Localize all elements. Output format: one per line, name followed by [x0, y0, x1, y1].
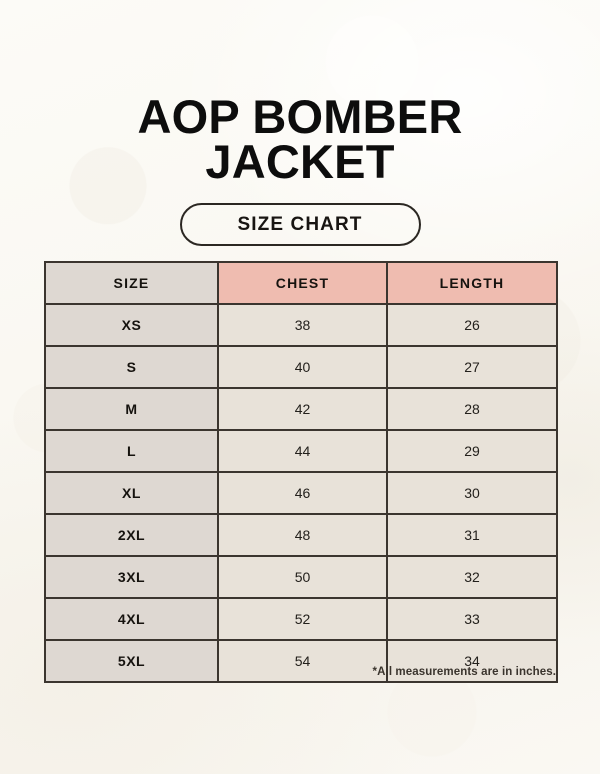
table-row: 3XL 50 32	[45, 556, 557, 598]
size-chart-badge-wrapper: SIZE CHART	[0, 203, 600, 246]
cell-chest: 42	[218, 388, 387, 430]
table-row: L 44 29	[45, 430, 557, 472]
cell-length: 31	[387, 514, 557, 556]
size-chart-poster: AOP BOMBER JACKET SIZE CHART SIZE CHEST …	[0, 0, 600, 774]
table-row: M 42 28	[45, 388, 557, 430]
cell-chest: 44	[218, 430, 387, 472]
size-chart-badge: SIZE CHART	[180, 203, 421, 246]
size-table: SIZE CHEST LENGTH XS 38 26 S 40 27 M	[44, 261, 558, 683]
table-row: 4XL 52 33	[45, 598, 557, 640]
cell-size: 3XL	[45, 556, 218, 598]
size-table-body: XS 38 26 S 40 27 M 42 28 L 44 29	[45, 304, 557, 682]
measurement-units-footnote: *All measurements are in inches.	[44, 666, 556, 678]
cell-size: 2XL	[45, 514, 218, 556]
cell-size: XL	[45, 472, 218, 514]
column-header-length: LENGTH	[387, 262, 557, 304]
column-header-chest: CHEST	[218, 262, 387, 304]
cell-length: 33	[387, 598, 557, 640]
cell-length: 28	[387, 388, 557, 430]
cell-size: L	[45, 430, 218, 472]
table-row: XL 46 30	[45, 472, 557, 514]
cell-chest: 40	[218, 346, 387, 388]
table-row: S 40 27	[45, 346, 557, 388]
cell-length: 26	[387, 304, 557, 346]
cell-chest: 50	[218, 556, 387, 598]
cell-size: S	[45, 346, 218, 388]
table-row: 2XL 48 31	[45, 514, 557, 556]
cell-size: 4XL	[45, 598, 218, 640]
cell-size: XS	[45, 304, 218, 346]
cell-chest: 52	[218, 598, 387, 640]
page-title-line-1: AOP BOMBER	[0, 94, 600, 139]
cell-length: 27	[387, 346, 557, 388]
cell-size: M	[45, 388, 218, 430]
page-title-line-2: JACKET	[0, 139, 600, 184]
size-table-wrapper: SIZE CHEST LENGTH XS 38 26 S 40 27 M	[44, 261, 556, 683]
cell-chest: 46	[218, 472, 387, 514]
size-chart-badge-label: SIZE CHART	[238, 214, 363, 236]
cell-length: 30	[387, 472, 557, 514]
cell-length: 29	[387, 430, 557, 472]
size-table-head: SIZE CHEST LENGTH	[45, 262, 557, 304]
cell-chest: 38	[218, 304, 387, 346]
page-title: AOP BOMBER JACKET	[0, 94, 600, 184]
cell-chest: 48	[218, 514, 387, 556]
cell-length: 32	[387, 556, 557, 598]
table-row: XS 38 26	[45, 304, 557, 346]
table-header-row: SIZE CHEST LENGTH	[45, 262, 557, 304]
column-header-size: SIZE	[45, 262, 218, 304]
